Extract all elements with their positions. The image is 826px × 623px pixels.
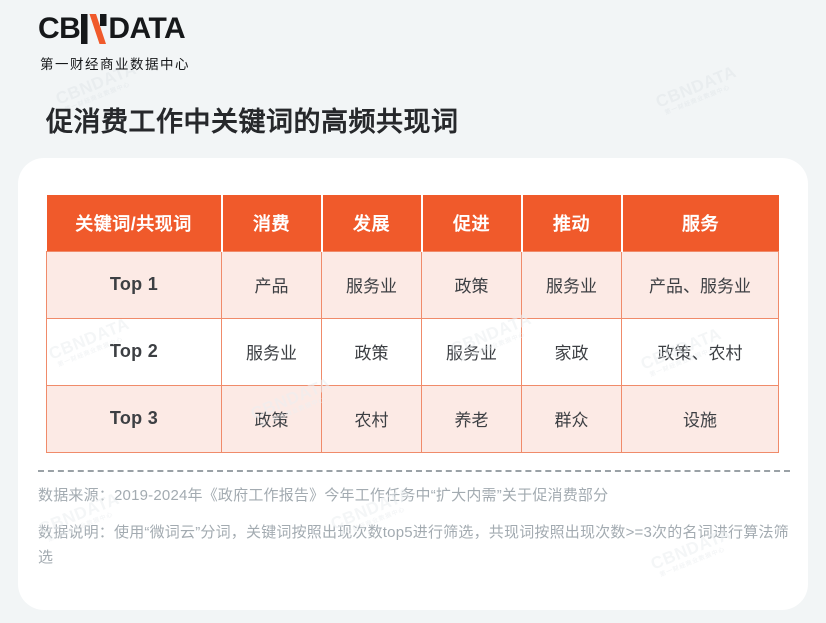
- logo-text-data: DATA: [108, 14, 185, 44]
- column-header-service: 服务: [622, 195, 779, 251]
- data-explanation-note: 数据说明：使用“微词云”分词，关键词按照出现次数top5进行筛选，共现词按照出现…: [38, 521, 792, 570]
- row-rank-label: Top 1: [47, 251, 222, 318]
- logo-subtitle: 第一财经商业数据中心: [40, 53, 190, 73]
- table-body: Top 1 产品 服务业 政策 服务业 产品、服务业 Top 2 服务业 政策 …: [47, 251, 779, 452]
- brand-logo: CB DATA 第一财经商业数据中心: [38, 14, 190, 73]
- row-rank-label: Top 2: [47, 318, 222, 385]
- footnote-divider: [38, 470, 790, 472]
- table-cell: 政策: [222, 385, 322, 452]
- table-row: Top 2 服务业 政策 服务业 家政 政策、农村: [47, 318, 779, 385]
- column-header-promote: 促进: [422, 195, 522, 251]
- table-header: 关键词/共现词 消费 发展 促进 推动 服务: [47, 195, 779, 251]
- table-cell: 家政: [522, 318, 622, 385]
- logo-wordmark: CB DATA: [38, 14, 190, 44]
- logo-text-cb: CB: [38, 14, 80, 44]
- watermark-logo: CBNDATA 第一财经商业数据中心: [653, 63, 741, 118]
- frequency-table-wrapper: 关键词/共现词 消费 发展 促进 推动 服务 Top 1 产品 服务业 政策 服…: [46, 195, 778, 453]
- table-cell: 群众: [522, 385, 622, 452]
- watermark-main: CBNDATA: [653, 62, 739, 111]
- table-header-row: 关键词/共现词 消费 发展 促进 推动 服务: [47, 195, 779, 251]
- table-cell: 服务业: [522, 251, 622, 318]
- column-header-keyword: 关键词/共现词: [47, 195, 222, 251]
- cooccurrence-table: 关键词/共现词 消费 发展 促进 推动 服务 Top 1 产品 服务业 政策 服…: [46, 195, 779, 453]
- table-cell: 农村: [322, 385, 422, 452]
- table-cell: 养老: [422, 385, 522, 452]
- orange-n-icon: [81, 14, 107, 44]
- table-cell: 设施: [622, 385, 779, 452]
- footnotes: 数据来源：2019-2024年《政府工作报告》今年工作任务中“扩大内需”关于促消…: [38, 484, 792, 583]
- data-source-note: 数据来源：2019-2024年《政府工作报告》今年工作任务中“扩大内需”关于促消…: [38, 484, 792, 508]
- table-cell: 政策: [322, 318, 422, 385]
- table-cell: 服务业: [222, 318, 322, 385]
- table-row: Top 3 政策 农村 养老 群众 设施: [47, 385, 779, 452]
- column-header-development: 发展: [322, 195, 422, 251]
- table-cell: 产品、服务业: [622, 251, 779, 318]
- infographic-root: CBNDATA 第一财经商业数据中心 CBNDATA 第一财经商业数据中心 CB…: [0, 0, 826, 623]
- column-header-consumption: 消费: [222, 195, 322, 251]
- column-header-advance: 推动: [522, 195, 622, 251]
- table-cell: 政策、农村: [622, 318, 779, 385]
- row-rank-label: Top 3: [47, 385, 222, 452]
- table-cell: 产品: [222, 251, 322, 318]
- page-title: 促消费工作中关键词的高频共现词: [46, 100, 459, 139]
- watermark-sub: 第一财经商业数据中心: [664, 80, 741, 116]
- table-cell: 政策: [422, 251, 522, 318]
- table-cell: 服务业: [422, 318, 522, 385]
- table-row: Top 1 产品 服务业 政策 服务业 产品、服务业: [47, 251, 779, 318]
- table-cell: 服务业: [322, 251, 422, 318]
